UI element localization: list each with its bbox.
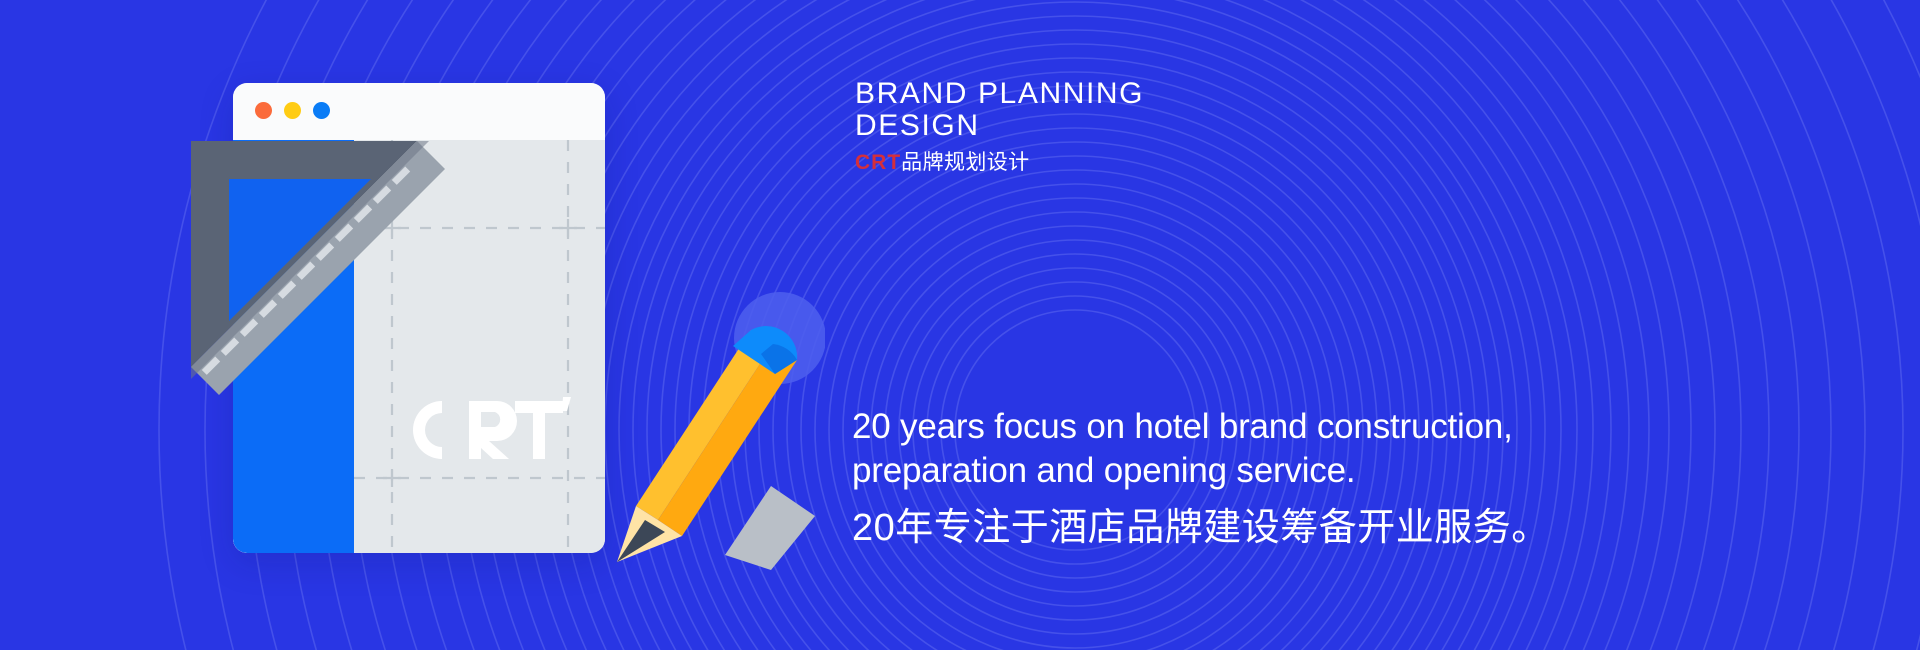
headline-block: BRAND PLANNING DESIGN CRT品牌规划设计 — [855, 78, 1555, 175]
minimize-dot-icon — [284, 102, 301, 119]
tagline-chinese: 20年专注于酒店品牌建设筹备开业服务。 — [852, 505, 1752, 553]
subhead-line: CRT品牌规划设计 — [855, 150, 1555, 175]
brand-mark-crt: CRT — [855, 151, 901, 174]
maximize-dot-icon — [313, 102, 330, 119]
triangle-ruler-icon — [185, 135, 485, 400]
browser-titlebar — [233, 83, 605, 140]
close-dot-icon — [255, 102, 272, 119]
tagline-block: 20 years focus on hotel brand constructi… — [852, 405, 1752, 553]
tagline-english: 20 years focus on hotel brand constructi… — [852, 405, 1752, 493]
crt-watermark-logo — [411, 395, 571, 465]
pencil-icon — [575, 270, 825, 580]
subhead-chinese: 品牌规划设计 — [901, 151, 1029, 174]
traffic-light-dots — [255, 102, 330, 119]
headline-english: BRAND PLANNING DESIGN — [855, 78, 1555, 141]
design-illustration — [185, 60, 825, 580]
brand-banner: BRAND PLANNING DESIGN CRT品牌规划设计 20 years… — [0, 0, 1920, 650]
